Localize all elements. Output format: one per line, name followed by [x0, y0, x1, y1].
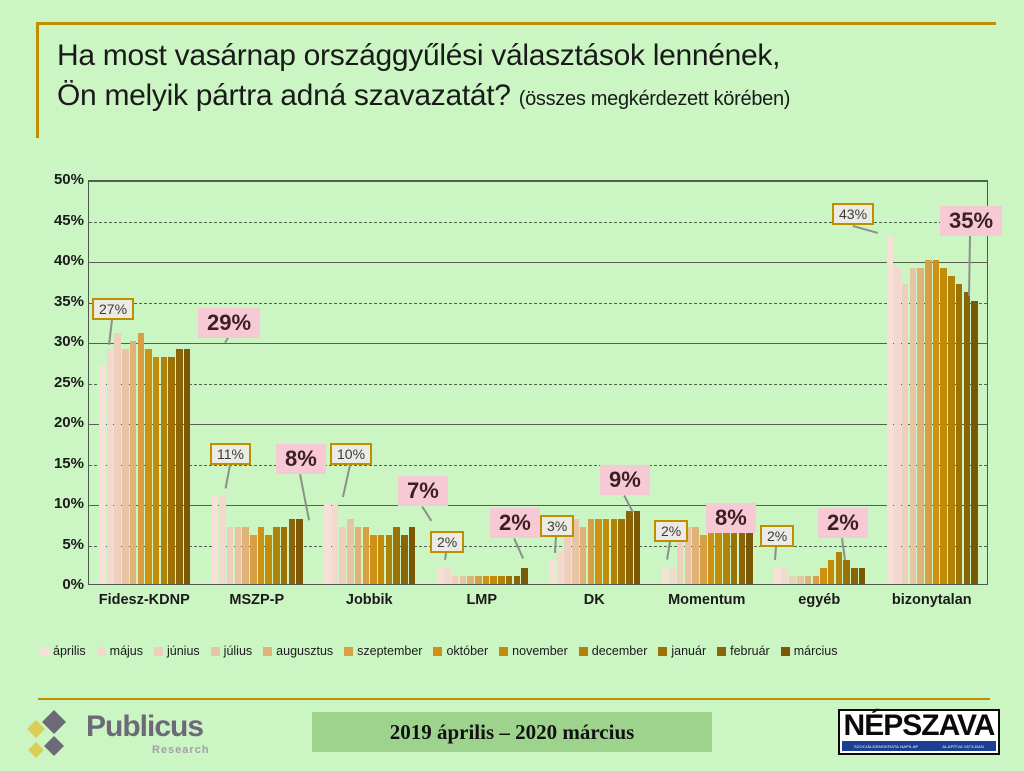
callout-small-27pct: 27%: [92, 298, 134, 320]
title-line-2: Ön melyik pártra adná szavazatát? (össze…: [57, 77, 996, 118]
bar: [498, 576, 505, 584]
legend-label: december: [592, 644, 648, 658]
bar: [948, 276, 955, 584]
bar: [887, 236, 894, 584]
publicus-wordmark: Publicus: [86, 710, 203, 744]
bar: [580, 527, 587, 584]
bar: [332, 503, 339, 584]
bar: [250, 535, 257, 584]
bar: [626, 511, 633, 584]
callout-small-2pct: 2%: [760, 525, 794, 547]
bar-group: [314, 181, 427, 584]
callout-big-8pct: 8%: [706, 503, 756, 533]
bar: [805, 576, 812, 584]
y-axis-tick: 5%: [38, 536, 84, 553]
bar: [265, 535, 272, 584]
legend-swatch-icon: [344, 647, 353, 656]
bar: [130, 341, 137, 584]
legend-swatch-icon: [499, 647, 508, 656]
bar: [138, 333, 145, 584]
legend-label: április: [53, 644, 86, 658]
x-axis-label-mszp-p: MSZP-P: [229, 592, 284, 608]
bar: [933, 260, 940, 584]
y-axis-tick: 10%: [38, 495, 84, 512]
nepszava-strip-left: SZOCIÁLDEMOKRATA NAPILAP: [854, 744, 918, 749]
callout-big-9pct: 9%: [600, 465, 650, 495]
x-axis-label-lmp: LMP: [466, 592, 497, 608]
bar: [669, 568, 676, 584]
legend-item-november[interactable]: november: [499, 644, 568, 658]
callout-big-35pct: 35%: [940, 206, 1002, 236]
y-axis-tick: 0%: [38, 576, 84, 593]
bar: [401, 535, 408, 584]
bar: [168, 357, 175, 584]
callout-small-2pct: 2%: [654, 520, 688, 542]
bar: [618, 519, 625, 584]
legend-swatch-icon: [263, 647, 272, 656]
legend-swatch-icon: [433, 647, 442, 656]
callout-big-2pct: 2%: [818, 508, 868, 538]
bar: [153, 357, 160, 584]
bar: [490, 576, 497, 584]
legend-item-június[interactable]: június: [154, 644, 200, 658]
y-axis-tick: 50%: [38, 171, 84, 188]
bar: [437, 568, 444, 584]
bar: [925, 260, 932, 584]
bar: [521, 568, 528, 584]
x-axis-label-momentum: Momentum: [668, 592, 745, 608]
bar: [843, 560, 850, 584]
bar: [662, 568, 669, 584]
legend-label: március: [794, 644, 838, 658]
bar: [460, 576, 467, 584]
bar: [971, 301, 978, 585]
bar: [894, 268, 901, 584]
legend-item-október[interactable]: október: [433, 644, 488, 658]
legend-label: július: [224, 644, 253, 658]
x-axis-label-dk: DK: [584, 592, 605, 608]
bar: [797, 576, 804, 584]
bar: [557, 552, 564, 584]
legend-item-május[interactable]: május: [97, 644, 143, 658]
bar: [289, 519, 296, 584]
legend-swatch-icon: [211, 647, 220, 656]
legend-swatch-icon: [154, 647, 163, 656]
legend-item-július[interactable]: július: [211, 644, 253, 658]
bar: [184, 349, 191, 584]
bar: [363, 527, 370, 584]
callout-small-43pct: 43%: [832, 203, 874, 225]
callout-big-2pct: 2%: [490, 508, 540, 538]
x-axis-label-jobbik: Jobbik: [346, 592, 393, 608]
legend-swatch-icon: [40, 647, 49, 656]
publicus-research-label: Research: [152, 744, 210, 756]
y-axis-tick: 30%: [38, 333, 84, 350]
callout-small-2pct: 2%: [430, 531, 464, 553]
bar: [549, 560, 556, 584]
legend-item-április[interactable]: április: [40, 644, 86, 658]
nepszava-wordmark: NÉPSZAVA: [840, 709, 998, 743]
legend-swatch-icon: [579, 647, 588, 656]
bar: [324, 503, 331, 584]
bar: [475, 576, 482, 584]
bar: [296, 519, 303, 584]
legend-label: október: [446, 644, 488, 658]
callout-small-11pct: 11%: [210, 443, 251, 465]
legend-label: február: [730, 644, 770, 658]
legend-swatch-icon: [717, 647, 726, 656]
bar: [378, 535, 385, 584]
y-axis-tick: 35%: [38, 293, 84, 310]
callout-big-7pct: 7%: [398, 476, 448, 506]
legend-swatch-icon: [781, 647, 790, 656]
title-question: Ön melyik pártra adná szavazatát?: [57, 79, 511, 112]
bar: [99, 365, 106, 584]
bar: [258, 527, 265, 584]
bar: [145, 349, 152, 584]
bar: [370, 535, 377, 584]
publicus-diamond-icon: [24, 706, 80, 762]
bar: [708, 527, 715, 584]
bar: [219, 495, 226, 584]
bar: [514, 576, 521, 584]
nepszava-strip-right: ALAPÍTVA 1873-BAN: [942, 744, 984, 749]
bar: [355, 527, 362, 584]
y-axis-labels: 0%5%10%15%20%25%30%35%40%45%50%: [38, 170, 84, 590]
bar: [114, 333, 121, 584]
bar: [836, 552, 843, 584]
bar: [347, 519, 354, 584]
bar: [483, 576, 490, 584]
bar: [692, 527, 699, 584]
bar: [700, 535, 707, 584]
bar: [588, 519, 595, 584]
period-banner: 2019 április – 2020 március: [312, 712, 712, 752]
legend-swatch-icon: [658, 647, 667, 656]
bar: [107, 349, 114, 584]
bar: [235, 527, 242, 584]
legend-item-augusztus[interactable]: augusztus: [263, 644, 333, 658]
x-axis-category-labels: Fidesz-KDNPMSZP-PJobbikLMPDKMomentumegyé…: [88, 592, 988, 616]
legend-item-február[interactable]: február: [717, 644, 770, 658]
y-axis-tick: 40%: [38, 252, 84, 269]
footer-divider: [38, 698, 990, 700]
nepszava-strip: SZOCIÁLDEMOKRATA NAPILAP ALAPÍTVA 1873-B…: [842, 741, 996, 751]
bar: [467, 576, 474, 584]
bar: [409, 527, 416, 584]
bar: [859, 568, 866, 584]
callout-big-8pct: 8%: [276, 444, 326, 474]
bar: [444, 568, 451, 584]
bar: [851, 568, 858, 584]
bar: [273, 527, 280, 584]
bar-group: [877, 181, 990, 584]
bar: [212, 495, 219, 584]
bar: [964, 292, 971, 584]
bar: [910, 268, 917, 584]
title-line-1: Ha most vasárnap országgyűlési választás…: [57, 37, 996, 75]
legend-label: augusztus: [276, 644, 333, 658]
title-subtitle: (összes megkérdezett körében): [519, 88, 790, 110]
period-text: 2019 április – 2020 március: [390, 720, 635, 745]
legend-label: január: [671, 644, 706, 658]
bar: [820, 568, 827, 584]
bar: [782, 568, 789, 584]
title-block: Ha most vasárnap országgyűlési választás…: [36, 22, 996, 138]
legend-item-január[interactable]: január: [658, 644, 706, 658]
bar: [281, 527, 288, 584]
bar: [393, 527, 400, 584]
y-axis-tick: 15%: [38, 455, 84, 472]
legend-label: június: [167, 644, 200, 658]
x-axis-label-egy-b: egyéb: [798, 592, 840, 608]
legend-item-március[interactable]: március: [781, 644, 838, 658]
bar: [611, 519, 618, 584]
publicus-logo: Publicus Research: [24, 706, 224, 764]
y-axis-tick: 20%: [38, 414, 84, 431]
bar: [122, 349, 129, 584]
legend-swatch-icon: [97, 647, 106, 656]
callout-big-29pct: 29%: [198, 308, 260, 338]
bar: [940, 268, 947, 584]
legend-label: május: [110, 644, 143, 658]
bar: [386, 535, 393, 584]
x-axis-label-fidesz-kdnp: Fidesz-KDNP: [99, 592, 190, 608]
legend-label: november: [512, 644, 568, 658]
bar: [828, 560, 835, 584]
bar: [634, 511, 641, 584]
bar: [161, 357, 168, 584]
x-axis-label-bizonytalan: bizonytalan: [892, 592, 972, 608]
bar-group: [89, 181, 202, 584]
bar: [789, 576, 796, 584]
nepszava-logo: NÉPSZAVA SZOCIÁLDEMOKRATA NAPILAP ALAPÍT…: [838, 709, 1000, 755]
bar: [452, 576, 459, 584]
bar: [902, 284, 909, 584]
bar: [506, 576, 513, 584]
bar: [956, 284, 963, 584]
bar: [774, 568, 781, 584]
bar: [677, 535, 684, 584]
bar: [917, 268, 924, 584]
legend-item-szeptember[interactable]: szeptember: [344, 644, 422, 658]
callout-small-3pct: 3%: [540, 515, 574, 537]
chart-legend: áprilismájusjúniusjúliusaugusztusszeptem…: [40, 641, 1000, 661]
legend-label: szeptember: [357, 644, 422, 658]
bar-group: [202, 181, 315, 584]
bar: [603, 519, 610, 584]
legend-item-december[interactable]: december: [579, 644, 648, 658]
bar: [176, 349, 183, 584]
y-axis-tick: 25%: [38, 374, 84, 391]
callout-small-10pct: 10%: [330, 443, 372, 465]
bar: [595, 519, 602, 584]
bar: [242, 527, 249, 584]
bar: [227, 527, 234, 584]
y-axis-tick: 45%: [38, 212, 84, 229]
bar: [813, 576, 820, 584]
bar: [339, 527, 346, 584]
